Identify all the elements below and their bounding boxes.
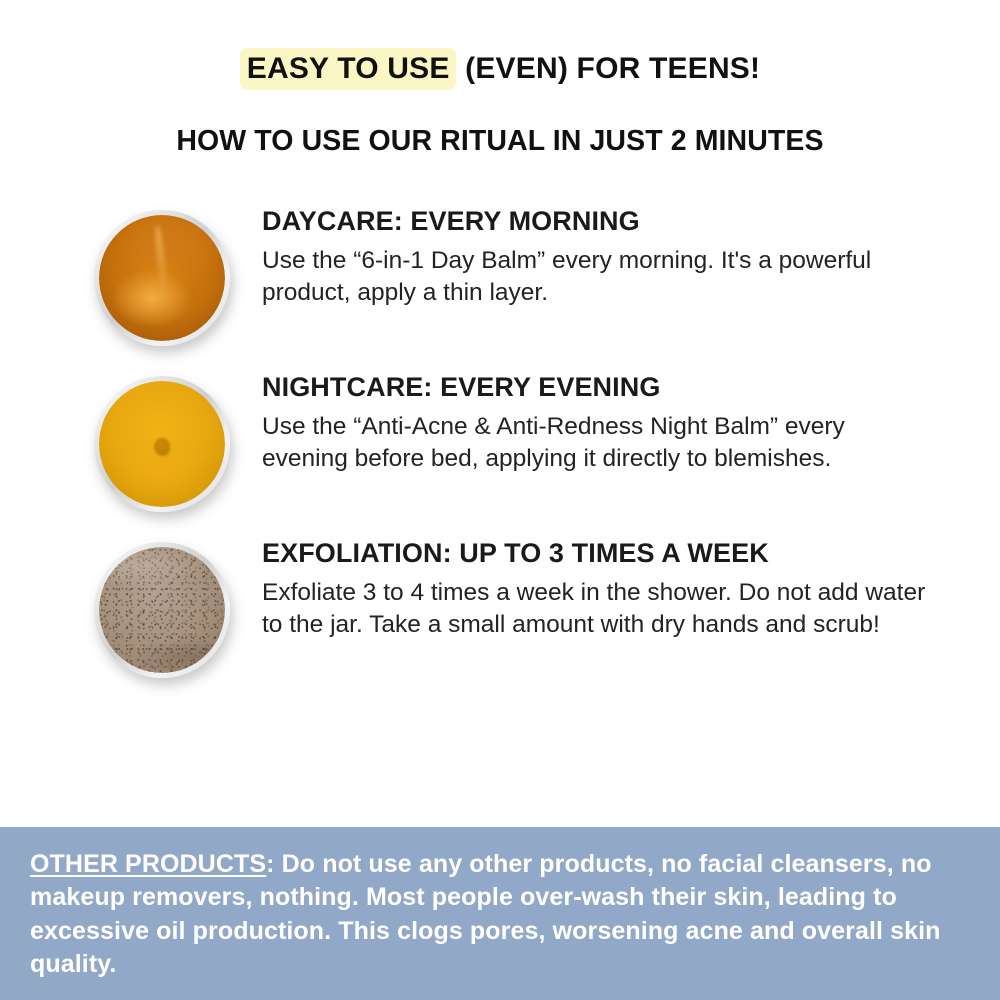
sub-headline: HOW TO USE OUR RITUAL IN JUST 2 MINUTES (176, 125, 823, 158)
step-title-nightcare: NIGHTCARE: EVERY EVENING (262, 372, 948, 402)
main-headline: EASY TO USE (EVEN) FOR TEENS! (240, 52, 760, 87)
list-item: DAYCARE: EVERY MORNING Use the “6-in-1 D… (62, 202, 970, 346)
day-balm-jar (94, 210, 230, 346)
jar-inner (99, 547, 225, 673)
step-text-exfoliation: Exfoliate 3 to 4 times a week in the sho… (262, 577, 934, 642)
headline-rest: (EVEN) FOR TEENS! (457, 52, 761, 85)
night-balm-jar (94, 376, 230, 512)
night-balm-product (99, 381, 225, 507)
scrub-jar (94, 542, 230, 678)
headline-highlight: EASY TO USE (240, 48, 456, 90)
step-text-daycare: Use the “6-in-1 Day Balm” every morning.… (262, 245, 934, 310)
jar-cell (62, 202, 262, 346)
step-body: DAYCARE: EVERY MORNING Use the “6-in-1 D… (262, 202, 970, 310)
other-products-banner: OTHER PRODUCTS: Do not use any other pro… (0, 827, 1000, 1000)
footer-colon: : (266, 850, 274, 878)
footer-paragraph: OTHER PRODUCTS: Do not use any other pro… (30, 848, 966, 981)
infographic-page: EASY TO USE (EVEN) FOR TEENS! HOW TO USE… (0, 0, 1000, 1000)
headline-container: EASY TO USE (EVEN) FOR TEENS! (0, 52, 1000, 87)
step-title-exfoliation: EXFOLIATION: UP TO 3 TIMES A WEEK (262, 538, 948, 568)
step-body: NIGHTCARE: EVERY EVENING Use the “Anti-A… (262, 368, 970, 476)
jar-cell (62, 368, 262, 512)
footer-label: OTHER PRODUCTS (30, 850, 266, 878)
scrub-product (99, 547, 225, 673)
jar-cell (62, 534, 262, 678)
jar-inner (99, 215, 225, 341)
step-title-daycare: DAYCARE: EVERY MORNING (262, 206, 948, 236)
subheadline-container: HOW TO USE OUR RITUAL IN JUST 2 MINUTES (0, 125, 1000, 158)
step-text-nightcare: Use the “Anti-Acne & Anti-Redness Night … (262, 411, 934, 476)
jar-inner (99, 381, 225, 507)
list-item: NIGHTCARE: EVERY EVENING Use the “Anti-A… (62, 368, 970, 512)
day-balm-product (99, 215, 225, 341)
list-item: EXFOLIATION: UP TO 3 TIMES A WEEK Exfoli… (62, 534, 970, 678)
step-body: EXFOLIATION: UP TO 3 TIMES A WEEK Exfoli… (262, 534, 970, 642)
